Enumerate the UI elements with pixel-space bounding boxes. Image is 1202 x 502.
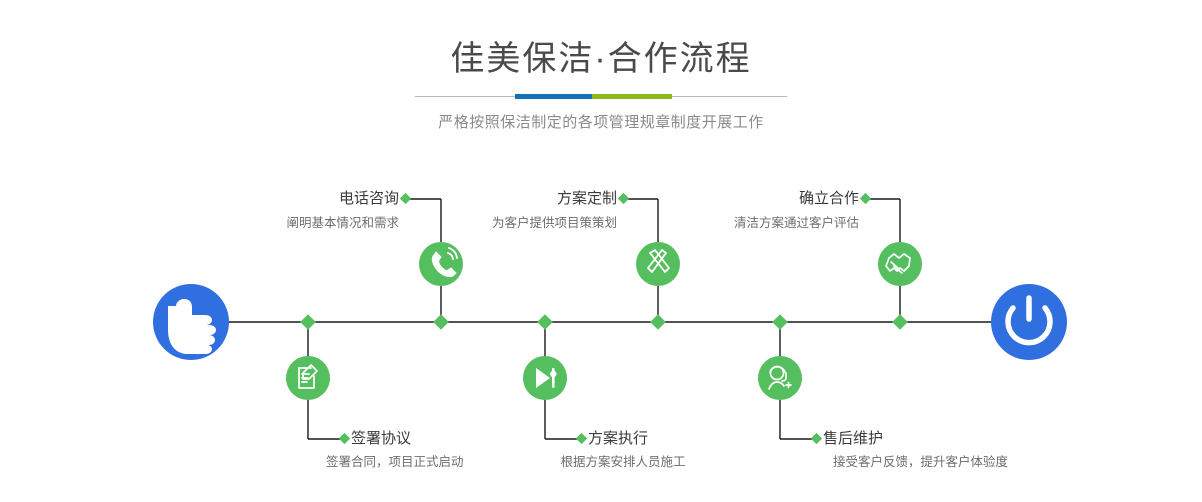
- step-2-desc: 签署合同，项目正式启动: [326, 453, 464, 471]
- timeline-marker-step-3: [650, 314, 666, 330]
- step-1-desc: 阐明基本情况和需求: [286, 214, 399, 232]
- step-2-label: 签署协议: [351, 429, 411, 449]
- label-marker-step-3: [618, 193, 629, 204]
- label-marker-step-1: [400, 193, 411, 204]
- timeline-marker-step-2: [300, 314, 316, 330]
- step-3-desc: 为客户提供项目策策划: [492, 214, 617, 232]
- step-6-icon-node[interactable]: [758, 356, 802, 400]
- step-4-icon-node[interactable]: [523, 356, 567, 400]
- step-5-icon-node[interactable]: [878, 242, 922, 286]
- step-3-icon-node[interactable]: [636, 242, 680, 286]
- step-6-label: 售后维护: [823, 429, 883, 449]
- timeline-marker-step-5: [892, 314, 908, 330]
- flow-diagram-svg: [0, 0, 1202, 502]
- step-5-label: 确立合作: [799, 189, 859, 209]
- flow-chart-page: 佳美保洁·合作流程 严格按照保洁制定的各项管理规章制度开展工作: [0, 0, 1202, 502]
- start-node[interactable]: [153, 284, 229, 360]
- step-4-label: 方案执行: [588, 429, 648, 449]
- step-5-icon-circle: [878, 242, 922, 286]
- timeline-marker-step-4: [537, 314, 553, 330]
- step-6-desc: 接受客户反馈，提升客户体验度: [833, 453, 1008, 471]
- step-3-label: 方案定制: [557, 189, 617, 209]
- step-1-icon-node[interactable]: [419, 242, 463, 286]
- label-marker-step-4: [576, 433, 587, 444]
- step-2-icon-node[interactable]: [286, 356, 330, 400]
- label-marker-step-2: [339, 433, 350, 444]
- end-node[interactable]: [991, 284, 1067, 360]
- label-marker-step-6: [811, 433, 822, 444]
- step-1-label: 电话咨询: [339, 189, 399, 209]
- step-4-desc: 根据方案安排人员施工: [560, 453, 685, 471]
- timeline-marker-step-6: [772, 314, 788, 330]
- step-5-desc: 清洁方案通过客户评估: [734, 214, 859, 232]
- process-flow-diagram: 电话咨询 阐明基本情况和需求 方案定制 为客户提供项目策策划 确立合作 清洁方案…: [0, 0, 1202, 502]
- timeline-marker-step-1: [433, 314, 449, 330]
- label-marker-step-5: [860, 193, 871, 204]
- step-1-icon-circle: [419, 242, 463, 286]
